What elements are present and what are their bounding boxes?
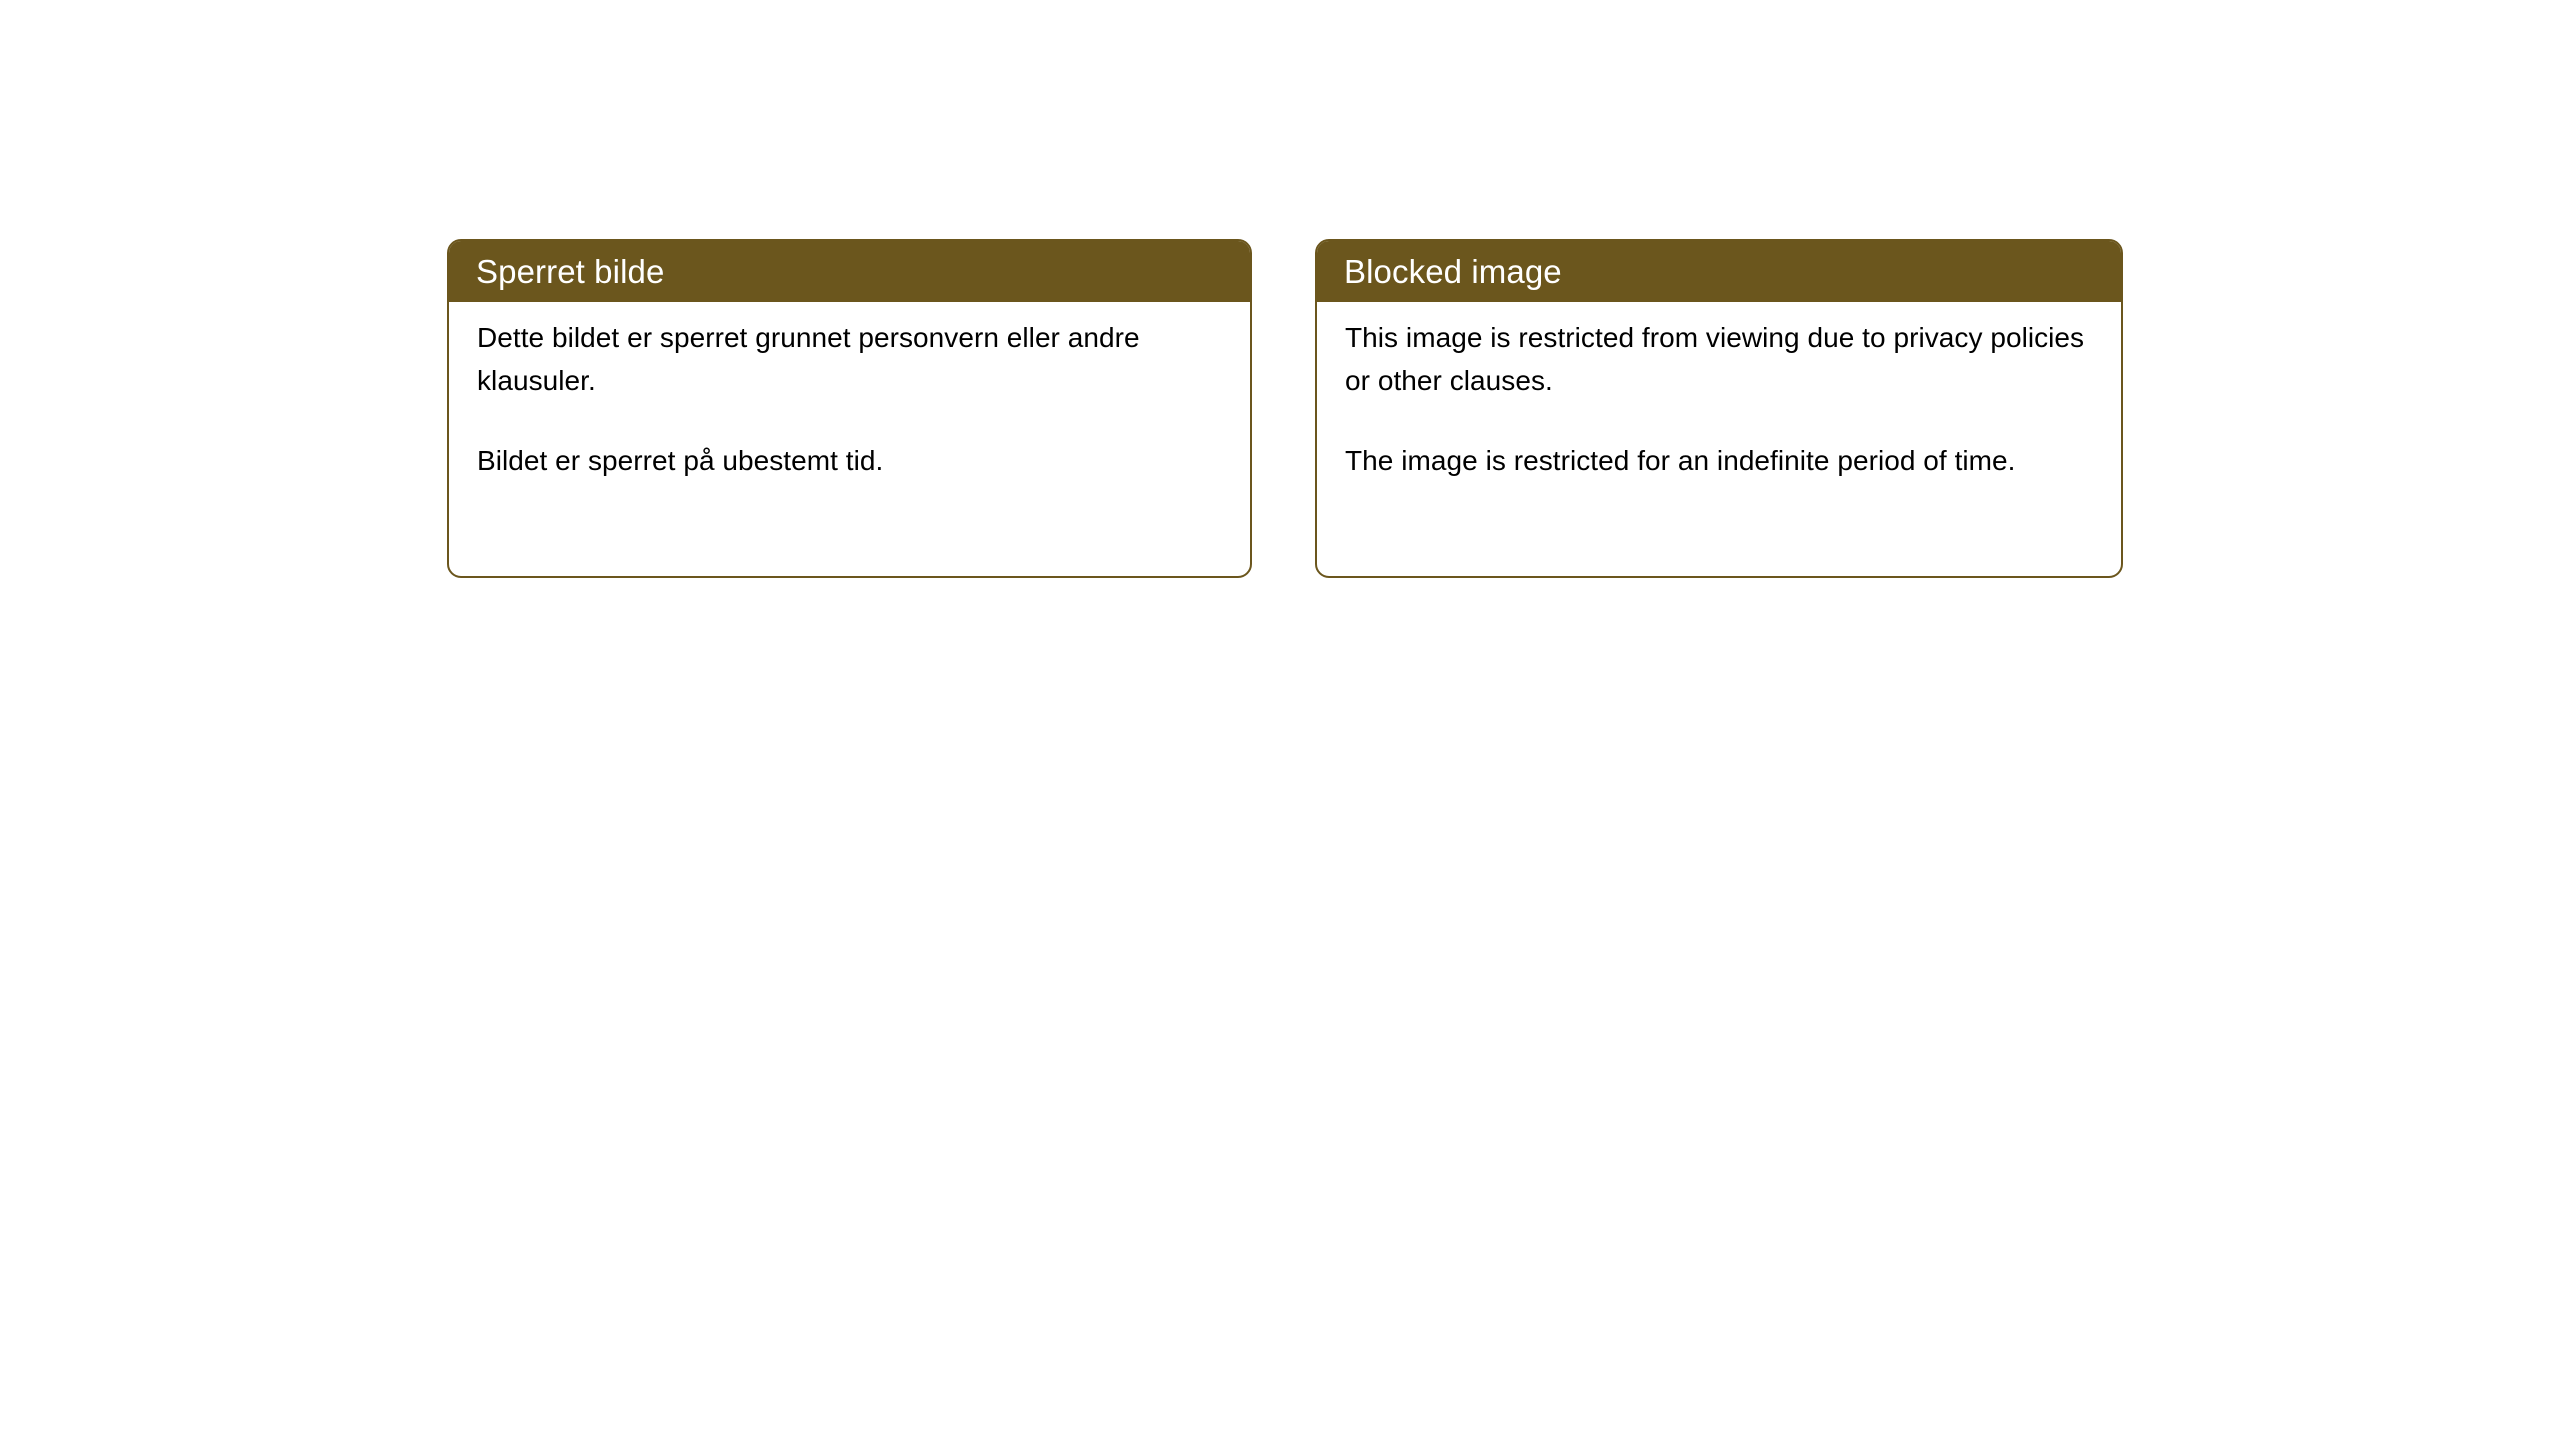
- notice-title-en: Blocked image: [1344, 255, 1562, 288]
- notice-title-no: Sperret bilde: [476, 255, 664, 288]
- notice-header-en: Blocked image: [1317, 241, 2121, 302]
- notice-body-en: This image is restricted from viewing du…: [1317, 302, 2121, 576]
- blocked-image-notice-no: Sperret bilde Dette bildet er sperret gr…: [447, 239, 1252, 578]
- page-root: Sperret bilde Dette bildet er sperret gr…: [0, 0, 2560, 1440]
- notice-paragraph-secondary-no: Bildet er sperret på ubestemt tid.: [477, 439, 1224, 482]
- notice-card-group: Sperret bilde Dette bildet er sperret gr…: [447, 239, 2123, 578]
- notice-body-no: Dette bildet er sperret grunnet personve…: [449, 302, 1250, 576]
- blocked-image-notice-en: Blocked image This image is restricted f…: [1315, 239, 2123, 578]
- notice-paragraph-primary-no: Dette bildet er sperret grunnet personve…: [477, 316, 1224, 402]
- notice-header-no: Sperret bilde: [449, 241, 1250, 302]
- notice-paragraph-secondary-en: The image is restricted for an indefinit…: [1345, 439, 2095, 482]
- notice-paragraph-primary-en: This image is restricted from viewing du…: [1345, 316, 2095, 402]
